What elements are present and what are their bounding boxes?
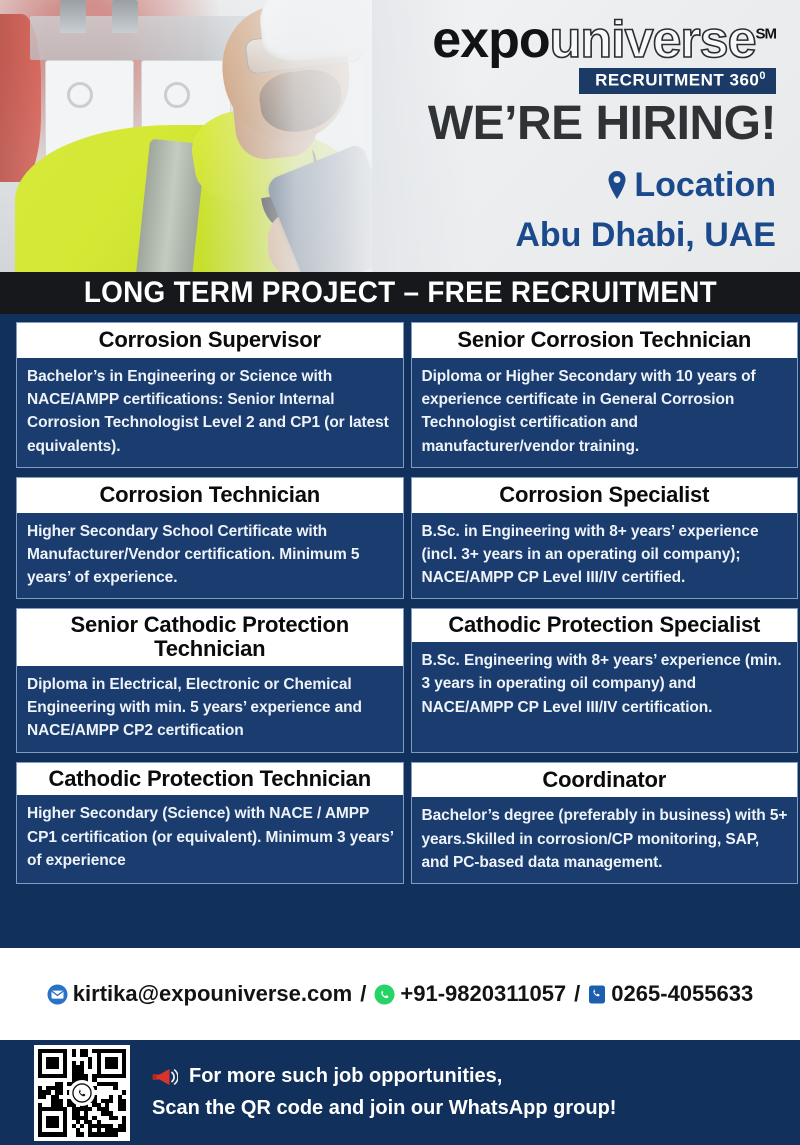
footer-text-block: For more such job opportunities, Scan th… [152, 1065, 616, 1120]
email-icon [47, 984, 68, 1005]
contact-bar: kirtika@expouniverse.com / +91-982031105… [0, 948, 800, 1040]
job-card[interactable]: Cathodic Protection Specialist B.Sc. Eng… [411, 608, 799, 752]
megaphone-icon [152, 1066, 178, 1088]
company-logo: expouniverseSM RECRUITMENT 3600 [432, 14, 776, 94]
job-requirements: Higher Secondary (Science) with NACE / A… [17, 795, 403, 881]
contact-separator: / [360, 981, 366, 1007]
job-card[interactable]: Senior Cathodic Protection Technician Di… [16, 608, 404, 752]
footer-line-1: For more such job opportunities, [152, 1065, 616, 1088]
location-row: Location [606, 168, 776, 202]
contact-landline[interactable]: 0265-4055633 [611, 981, 753, 1007]
job-card[interactable]: Corrosion Specialist B.Sc. in Engineerin… [411, 477, 799, 600]
job-card[interactable]: Corrosion Supervisor Bachelor’s in Engin… [16, 322, 404, 468]
hero-section: expouniverseSM RECRUITMENT 3600 WE’RE HI… [0, 0, 800, 272]
logo-wordmark: expouniverseSM [432, 14, 776, 66]
job-requirements: Diploma in Electrical, Electronic or Che… [17, 666, 403, 752]
photo-gauge-icon [164, 82, 190, 108]
job-title: Corrosion Specialist [412, 478, 798, 513]
job-title: Cathodic Protection Specialist [412, 609, 798, 642]
contact-mobile[interactable]: +91-9820311057 [400, 981, 566, 1007]
recruitment-poster: expouniverseSM RECRUITMENT 3600 WE’RE HI… [0, 0, 800, 1145]
location-label: Location [634, 168, 776, 202]
photo-canister [112, 0, 138, 33]
logo-servicemark: SM [756, 26, 777, 43]
contact-separator: / [574, 981, 580, 1007]
job-cards-section: Corrosion Supervisor Bachelor’s in Engin… [0, 314, 800, 948]
job-requirements: Bachelor’s in Engineering or Science wit… [17, 358, 403, 467]
telephone-icon [588, 984, 606, 1005]
logo-expo-text: expo [432, 11, 549, 69]
project-banner-text: LONG TERM PROJECT – FREE RECRUITMENT [83, 276, 716, 310]
qr-code-icon[interactable] [34, 1045, 130, 1141]
headline: WE’RE HIRING! [428, 100, 776, 148]
photo-fade-overlay [201, 0, 372, 272]
logo-tagline-degree: 0 [759, 70, 766, 82]
job-requirements: Bachelor’s degree (preferably in busines… [412, 797, 798, 883]
footer-cta-primary: For more such job opportunities, [189, 1065, 502, 1088]
worker-photo [0, 0, 372, 272]
job-row: Corrosion Technician Higher Secondary Sc… [0, 477, 800, 600]
job-title: Senior Cathodic Protection Technician [17, 609, 403, 666]
contact-line: kirtika@expouniverse.com / +91-982031105… [47, 981, 753, 1007]
job-card[interactable]: Corrosion Technician Higher Secondary Sc… [16, 477, 404, 600]
job-requirements: B.Sc. Engineering with 8+ years’ experie… [412, 642, 798, 728]
job-card[interactable]: Senior Corrosion Technician Diploma or H… [411, 322, 799, 468]
job-row: Cathodic Protection Technician Higher Se… [0, 762, 800, 885]
photo-gauge-icon [67, 82, 93, 108]
job-requirements: Higher Secondary School Certificate with… [17, 513, 403, 599]
job-card[interactable]: Cathodic Protection Technician Higher Se… [16, 762, 404, 885]
job-card[interactable]: Coordinator Bachelor’s degree (preferabl… [411, 762, 799, 885]
job-title: Coordinator [412, 763, 798, 798]
job-row: Senior Cathodic Protection Technician Di… [0, 608, 800, 752]
logo-tagline-bar: RECRUITMENT 3600 [579, 68, 776, 94]
whatsapp-icon [69, 1080, 95, 1106]
job-title: Corrosion Supervisor [17, 323, 403, 358]
location-value: Abu Dhabi, UAE [515, 218, 776, 252]
job-row: Corrosion Supervisor Bachelor’s in Engin… [0, 322, 800, 468]
job-title: Cathodic Protection Technician [17, 763, 403, 796]
whatsapp-icon [374, 984, 395, 1005]
job-requirements: Diploma or Higher Secondary with 10 year… [412, 358, 798, 467]
location-pin-icon [606, 170, 628, 200]
job-title: Senior Corrosion Technician [412, 323, 798, 358]
footer-section: For more such job opportunities, Scan th… [0, 1040, 800, 1145]
photo-canister [60, 0, 86, 33]
logo-tagline-text: RECRUITMENT 360 [595, 71, 759, 90]
contact-email[interactable]: kirtika@expouniverse.com [73, 981, 352, 1007]
footer-cta-secondary: Scan the QR code and join our WhatsApp g… [152, 1097, 616, 1120]
logo-universe-text: universe [550, 11, 756, 69]
job-title: Corrosion Technician [17, 478, 403, 513]
job-requirements: B.Sc. in Engineering with 8+ years’ expe… [412, 513, 798, 599]
project-banner: LONG TERM PROJECT – FREE RECRUITMENT [0, 272, 800, 314]
